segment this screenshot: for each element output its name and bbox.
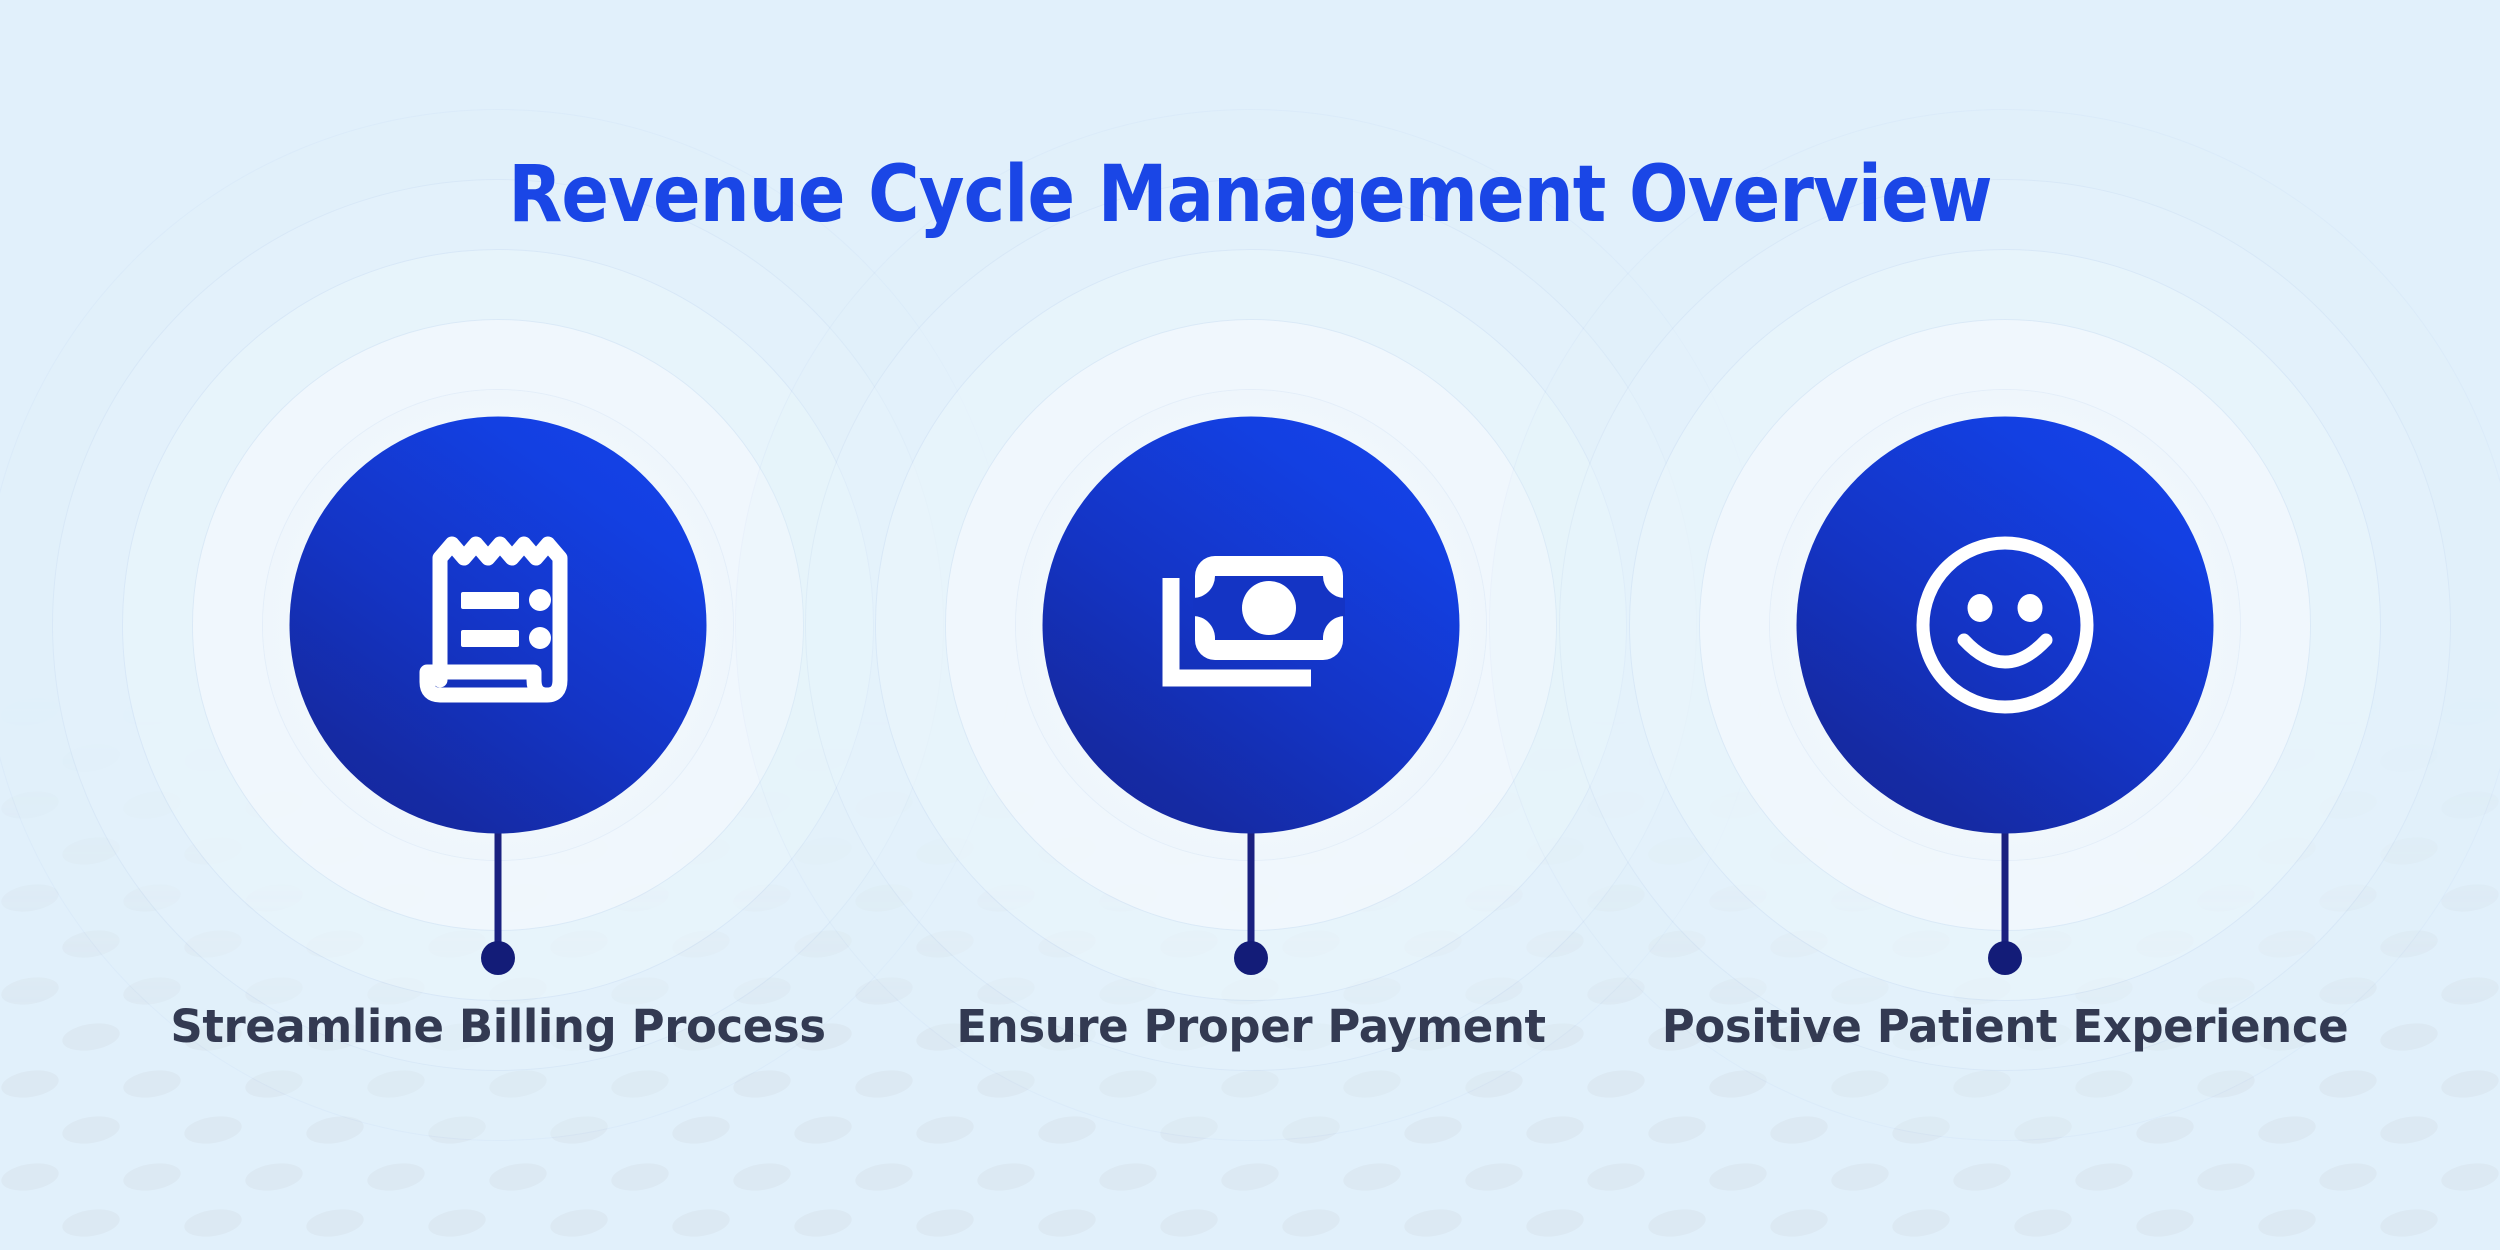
node-pin-streamline-billing-process (481, 941, 515, 975)
smiley-face-icon-wrapper (1912, 532, 2098, 718)
infographic-canvas: Revenue Cycle Management Overview Stream… (0, 0, 2500, 1250)
node-caption-positive-patient-experience: Positive Patient Experience (1662, 1000, 2348, 1053)
page-title: Revenue Cycle Management Overview (125, 150, 2375, 240)
node-caption-ensure-proper-payment: Ensure Proper Payment (956, 1000, 1545, 1053)
node-caption-streamline-billing-process: Streamline Billing Process (170, 1000, 825, 1053)
node-pin-ensure-proper-payment (1234, 941, 1268, 975)
node-stem-ensure-proper-payment (1248, 814, 1255, 959)
node-stem-positive-patient-experience (2002, 814, 2009, 959)
banknotes-icon-wrapper (1151, 550, 1351, 700)
receipt-icon-wrapper (413, 530, 583, 720)
node-pin-positive-patient-experience (1988, 941, 2022, 975)
smiley-face-icon (1912, 532, 2098, 718)
banknotes-icon (1151, 550, 1351, 700)
node-stem-streamline-billing-process (495, 814, 502, 959)
receipt-icon (413, 530, 583, 720)
